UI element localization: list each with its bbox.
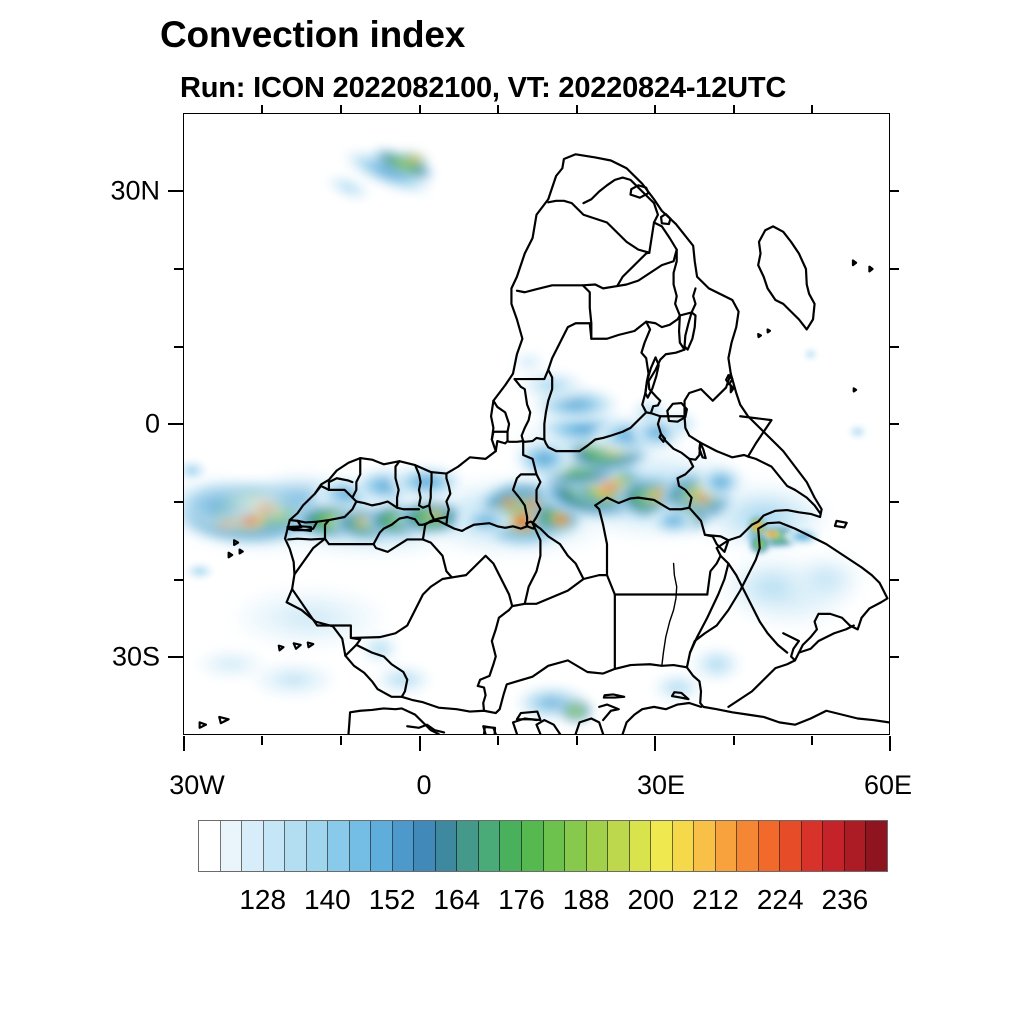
- colorbar-cell: [802, 821, 824, 871]
- colorbar-cell: [328, 821, 350, 871]
- colorbar-cell: [608, 821, 630, 871]
- colorbar-cell: [759, 821, 781, 871]
- xtick-minor-20e: [576, 736, 578, 745]
- ylabel-30n: 30N: [0, 176, 160, 207]
- xlabel-60e: 60E: [864, 770, 912, 801]
- colorbar-cell: [457, 821, 479, 871]
- colorbar-cell: [371, 821, 393, 871]
- colorbar-tick-label: 236: [822, 884, 869, 916]
- ytick-right-30n: [890, 190, 899, 192]
- xtick-top-10w: [340, 105, 342, 114]
- xtick-minor-40e: [733, 736, 735, 745]
- ytick-right-30s: [890, 656, 899, 658]
- colorbar-cell: [221, 821, 243, 871]
- convection-field: [184, 140, 868, 724]
- ytick-minor-20s: [174, 579, 183, 581]
- colorbar-tick-label: 164: [433, 884, 480, 916]
- xtick-top-40e: [733, 105, 735, 114]
- xtick-top-20e: [576, 105, 578, 114]
- map-svg: [184, 114, 889, 734]
- xtick-major-30w: [183, 736, 185, 751]
- colorbar[interactable]: [198, 820, 888, 872]
- colorbar-cell: [285, 821, 307, 871]
- colorbar-tick-label: 212: [692, 884, 739, 916]
- colorbar-tick-label: 140: [304, 884, 351, 916]
- colorbar-cell: [393, 821, 415, 871]
- xtick-minor-50e: [811, 736, 813, 745]
- xlabel-30e: 30E: [637, 770, 685, 801]
- colorbar-cell: [866, 821, 887, 871]
- colorbar-cell: [565, 821, 587, 871]
- ytick-right-20s: [890, 579, 899, 581]
- colorbar-cell: [823, 821, 845, 871]
- xtick-top-30e: [654, 105, 656, 114]
- colorbar-cell: [199, 821, 221, 871]
- colorbar-cell: [242, 821, 264, 871]
- colorbar-cell: [307, 821, 329, 871]
- colorbar-cell: [264, 821, 286, 871]
- xtick-top-50e: [811, 105, 813, 114]
- map-plot-area[interactable]: [183, 113, 890, 735]
- ytick-major-30n: [168, 190, 183, 192]
- colorbar-tick-label: 188: [563, 884, 610, 916]
- colorbar-tick-label: 200: [627, 884, 674, 916]
- ytick-right-10s: [890, 501, 899, 503]
- colorbar-cell: [630, 821, 652, 871]
- colorbar-cell: [479, 821, 501, 871]
- ytick-right-0: [890, 423, 899, 425]
- colorbar-cell: [673, 821, 695, 871]
- figure-subtitle: Run: ICON 2022082100, VT: 20220824-12UTC: [180, 72, 786, 105]
- colorbar-cell: [500, 821, 522, 871]
- colorbar-cell: [522, 821, 544, 871]
- xtick-major-30e: [654, 736, 656, 751]
- ytick-major-30s: [168, 656, 183, 658]
- xtick-major-60e: [889, 736, 891, 751]
- colorbar-cell: [716, 821, 738, 871]
- xtick-top-10e: [497, 105, 499, 114]
- ytick-minor-20n: [174, 268, 183, 270]
- ytick-minor-10n: [174, 346, 183, 348]
- colorbar-cell: [694, 821, 716, 871]
- xlabel-0: 0: [416, 770, 431, 801]
- xtick-minor-20w: [261, 736, 263, 745]
- xtick-minor-10e: [497, 736, 499, 745]
- ytick-major-0: [168, 423, 183, 425]
- xtick-major-0: [419, 736, 421, 751]
- ytick-right-10n: [890, 346, 899, 348]
- colorbar-cell: [587, 821, 609, 871]
- colorbar-tick-label: 152: [369, 884, 416, 916]
- colorbar-tick-label: 128: [239, 884, 286, 916]
- colorbar-cell: [737, 821, 759, 871]
- xtick-minor-10w: [340, 736, 342, 745]
- ylabel-0: 0: [0, 409, 160, 440]
- page-title: Convection index: [160, 14, 465, 56]
- colorbar-cell: [544, 821, 566, 871]
- ytick-right-20n: [890, 268, 899, 270]
- ylabel-30s: 30S: [0, 642, 160, 673]
- colorbar-tick-label: 224: [757, 884, 804, 916]
- ytick-minor-10s: [174, 501, 183, 503]
- colorbar-cell: [414, 821, 436, 871]
- xlabel-30w: 30W: [169, 770, 225, 801]
- colorbar-cell: [845, 821, 867, 871]
- figure-canvas: Convection index Run: ICON 2022082100, V…: [0, 0, 1024, 1024]
- colorbar-cell: [780, 821, 802, 871]
- colorbar-tick-label: 176: [498, 884, 545, 916]
- xtick-top-0: [419, 105, 421, 114]
- colorbar-cell: [651, 821, 673, 871]
- colorbar-cell: [436, 821, 458, 871]
- colorbar-cell: [350, 821, 372, 871]
- xtick-top-20w: [261, 105, 263, 114]
